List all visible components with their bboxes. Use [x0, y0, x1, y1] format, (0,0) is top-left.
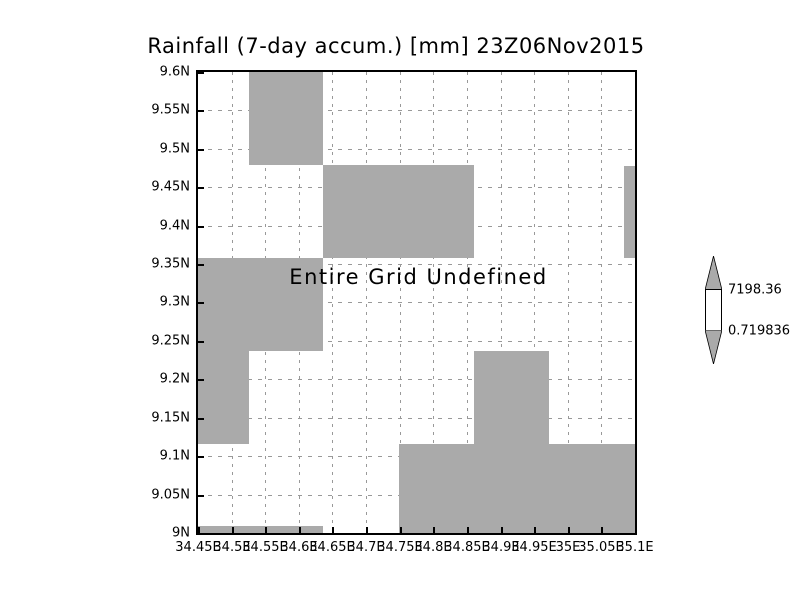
x-tick: [400, 527, 402, 534]
undefined-patch: [249, 72, 323, 165]
y-axis-tick-label: 9.55N: [151, 103, 190, 118]
x-tick: [232, 527, 234, 534]
y-axis-tick-label: 9.5N: [160, 142, 190, 157]
colorbar-max-label: 7198.36: [728, 283, 782, 298]
x-tick: [433, 527, 435, 534]
x-axis-tick-label: 35E: [556, 540, 581, 555]
y-tick: [198, 226, 204, 228]
undefined-patch: [399, 444, 637, 535]
x-axis-tick-label: 34.95E: [511, 540, 556, 555]
x-axis-tick-label: 35.1E: [616, 540, 653, 555]
y-tick: [198, 187, 204, 189]
undefined-patch: [198, 351, 249, 444]
colorbar-lower-arrow-icon: [705, 330, 722, 364]
y-axis-tick-label: 9.6N: [160, 65, 190, 80]
y-tick: [198, 110, 204, 112]
undefined-patch-layer: [198, 72, 635, 533]
y-axis-tick-label: 9.4N: [160, 219, 190, 234]
colorbar-upper-arrow-icon: [705, 256, 722, 290]
undefined-patch: [198, 526, 323, 535]
y-tick: [198, 149, 204, 151]
y-axis-tick-label: 9.25N: [151, 334, 190, 349]
colorbar-min-label: 0.719836: [728, 324, 790, 339]
y-tick: [198, 264, 204, 266]
undefined-grid-message: Entire Grid Undefined: [198, 265, 637, 289]
x-tick: [534, 527, 536, 534]
y-tick: [198, 418, 204, 420]
y-tick: [198, 379, 204, 381]
page-title: Rainfall (7-day accum.) [mm] 23Z06Nov201…: [0, 34, 792, 58]
x-tick: [635, 527, 637, 534]
x-tick: [568, 527, 570, 534]
grads-plot-canvas: Rainfall (7-day accum.) [mm] 23Z06Nov201…: [0, 0, 792, 612]
x-tick: [366, 527, 368, 534]
x-tick: [501, 527, 503, 534]
y-axis-tick-label: 9.3N: [160, 295, 190, 310]
colorbar-range-box: [705, 289, 722, 331]
x-tick: [601, 527, 603, 534]
plot-area: Entire Grid Undefined: [196, 70, 637, 535]
y-tick: [198, 302, 204, 304]
y-tick: [198, 72, 204, 74]
x-tick: [299, 527, 301, 534]
y-axis-tick-label: 9.45N: [151, 180, 190, 195]
colorbar[interactable]: 7198.36 0.719836: [700, 256, 726, 364]
x-tick: [332, 527, 334, 534]
y-axis-tick-label: 9.15N: [151, 411, 190, 426]
x-tick: [265, 527, 267, 534]
undefined-patch: [474, 351, 549, 444]
y-axis-labels: 9.6N9.55N9.5N9.45N9.4N9.35N9.3N9.25N9.2N…: [148, 70, 190, 535]
y-axis-tick-label: 9.1N: [160, 449, 190, 464]
y-tick: [198, 495, 204, 497]
y-axis-tick-label: 9.2N: [160, 372, 190, 387]
x-tick: [198, 527, 200, 534]
x-axis-labels: 34.45E34.5E34.55E34.6E34.65E34.7E34.75E3…: [196, 540, 637, 562]
undefined-patch: [624, 166, 637, 258]
y-tick: [198, 456, 204, 458]
y-tick: [198, 341, 204, 343]
undefined-patch: [323, 165, 474, 258]
y-tick: [198, 533, 204, 535]
x-tick: [467, 527, 469, 534]
y-axis-tick-label: 9.35N: [151, 257, 190, 272]
y-axis-tick-label: 9.05N: [151, 488, 190, 503]
y-axis-tick-label: 9N: [172, 526, 190, 541]
